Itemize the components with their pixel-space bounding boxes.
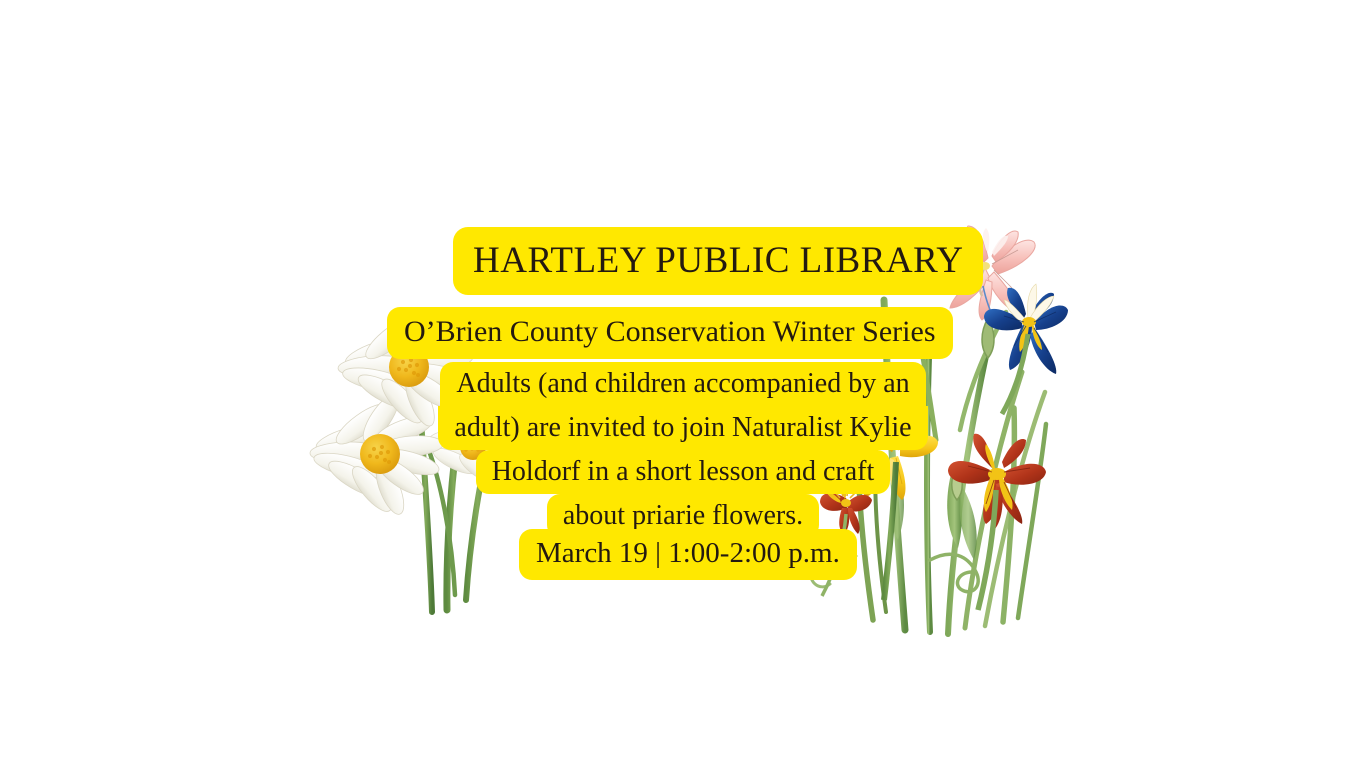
poster-title-text: HARTLEY PUBLIC LIBRARY [453, 227, 983, 295]
poster-text-layer: HARTLEY PUBLIC LIBRARY O’Brien County Co… [0, 0, 1366, 768]
poster-body-line-3: Holdorf in a short lesson and craft [476, 450, 891, 494]
poster-subtitle: O’Brien County Conservation Winter Serie… [387, 307, 953, 359]
poster-subtitle-text: O’Brien County Conservation Winter Serie… [387, 307, 953, 359]
flyer-canvas: HARTLEY PUBLIC LIBRARY O’Brien County Co… [0, 0, 1366, 768]
poster-body-line-1: Adults (and children accompanied by an [440, 362, 925, 406]
poster-date-time-text: March 19 | 1:00-2:00 p.m. [519, 529, 857, 580]
poster-body: Adults (and children accompanied by an a… [0, 362, 1366, 538]
poster-body-line-2: adult) are invited to join Naturalist Ky… [438, 406, 927, 450]
poster-date-time: March 19 | 1:00-2:00 p.m. [519, 529, 857, 580]
poster-title: HARTLEY PUBLIC LIBRARY [453, 227, 983, 295]
